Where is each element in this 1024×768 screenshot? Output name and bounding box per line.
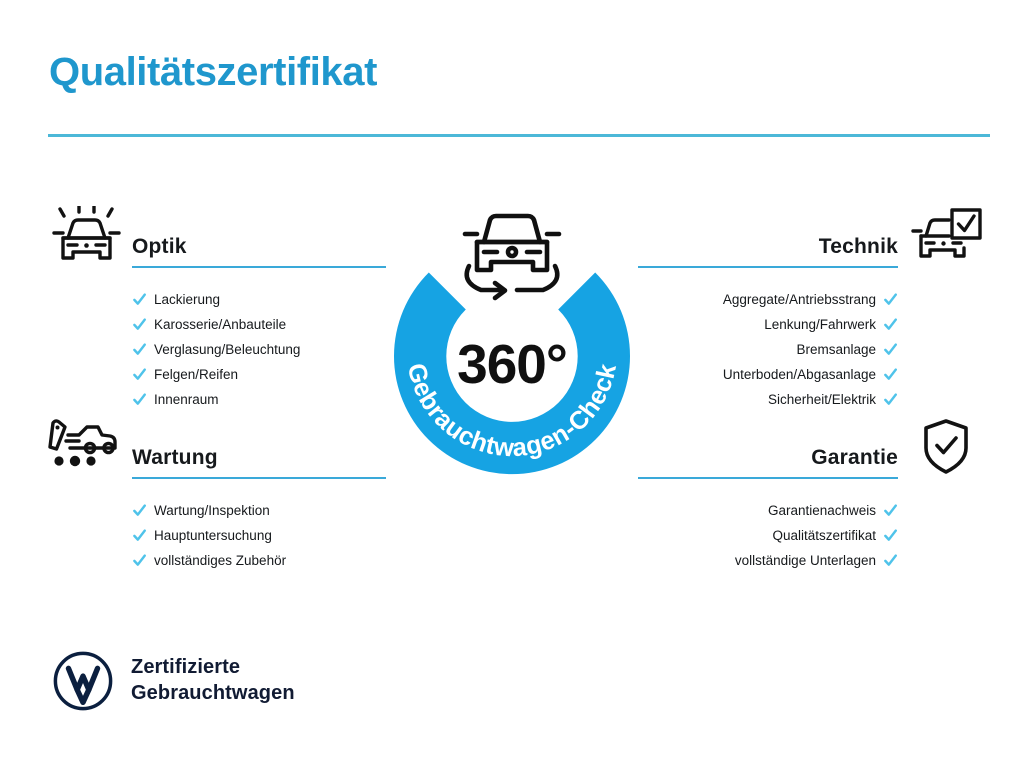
list-item: Lackierung	[132, 292, 386, 307]
section-garantie: Garantie Garantienachweis Qualitätszerti…	[638, 417, 984, 578]
section-title: Wartung	[132, 447, 386, 469]
car-checkbox-icon	[908, 206, 984, 268]
section-header: Optik	[46, 206, 386, 272]
check-list-optik: Lackierung Karosserie/Anbauteile Verglas…	[132, 292, 386, 407]
list-item: Innenraum	[132, 392, 386, 407]
section-title-wrap: Optik	[132, 236, 386, 268]
check-icon	[132, 528, 147, 543]
check-icon	[132, 367, 147, 382]
list-item: Lenkung/Fahrwerk	[638, 317, 898, 332]
list-item-label: Wartung/Inspektion	[154, 504, 270, 518]
list-item-label: vollständiges Zubehör	[154, 554, 286, 568]
check-icon	[132, 342, 147, 357]
section-title: Garantie	[638, 447, 898, 469]
check-icon	[132, 317, 147, 332]
vw-wordmark-line2: Gebrauchtwagen	[131, 681, 295, 707]
list-item: vollständige Unterlagen	[638, 553, 898, 568]
header-divider	[48, 134, 990, 137]
list-item: Wartung/Inspektion	[132, 503, 386, 518]
section-underline	[638, 266, 898, 268]
certificate-page: Qualitätszertifikat	[0, 0, 1024, 768]
check-icon	[883, 292, 898, 307]
car-shine-icon	[46, 206, 122, 268]
check-icon	[132, 503, 147, 518]
check-icon	[132, 392, 147, 407]
footer-brand: Zertifizierte Gebrauchtwagen	[52, 650, 295, 712]
section-title: Technik	[638, 236, 898, 258]
check-icon	[883, 317, 898, 332]
list-item: Karosserie/Anbauteile	[132, 317, 386, 332]
section-title: Optik	[132, 236, 386, 258]
check-icon	[132, 553, 147, 568]
list-item: Felgen/Reifen	[132, 367, 386, 382]
section-wartung: Wartung Wartung/Inspektion Hauptuntersuc…	[46, 417, 386, 578]
vw-logo-icon	[52, 650, 114, 712]
check-list-technik: Aggregate/Antriebsstrang Lenkung/Fahrwer…	[638, 292, 898, 407]
list-item-label: Bremsanlage	[796, 343, 876, 357]
section-underline	[132, 477, 386, 479]
list-item-label: Lenkung/Fahrwerk	[764, 318, 876, 332]
list-item: Sicherheit/Elektrik	[638, 392, 898, 407]
vw-wordmark: Zertifizierte Gebrauchtwagen	[131, 655, 295, 706]
section-header: Technik	[638, 206, 984, 272]
car-rotate-icon	[451, 200, 573, 305]
check-icon	[883, 528, 898, 543]
section-header: Garantie	[638, 417, 984, 483]
wrench-car-icon	[46, 417, 122, 479]
list-item: Qualitätszertifikat	[638, 528, 898, 543]
section-header: Wartung	[46, 417, 386, 483]
check-icon	[883, 553, 898, 568]
list-item-label: Lackierung	[154, 293, 220, 307]
list-item: Hauptuntersuchung	[132, 528, 386, 543]
check-icon	[132, 292, 147, 307]
list-item: Garantienachweis	[638, 503, 898, 518]
list-item-label: Sicherheit/Elektrik	[768, 393, 876, 407]
section-title-wrap: Wartung	[132, 447, 386, 479]
list-item-label: Verglasung/Beleuchtung	[154, 343, 300, 357]
list-item: vollständiges Zubehör	[132, 553, 386, 568]
list-item-label: Karosserie/Anbauteile	[154, 318, 286, 332]
badge-degrees-label: 360°	[367, 337, 657, 392]
list-item-label: Hauptuntersuchung	[154, 529, 272, 543]
list-item-label: Felgen/Reifen	[154, 368, 238, 382]
check-icon	[883, 503, 898, 518]
section-optik: Optik Lackierung Karosserie/Anbauteile	[46, 206, 386, 417]
list-item: Verglasung/Beleuchtung	[132, 342, 386, 357]
section-underline	[638, 477, 898, 479]
list-item-label: Qualitätszertifikat	[772, 529, 876, 543]
page-title: Qualitätszertifikat	[49, 50, 377, 94]
list-item: Bremsanlage	[638, 342, 898, 357]
section-underline	[132, 266, 386, 268]
section-title-wrap: Garantie	[638, 447, 898, 479]
check-icon	[883, 392, 898, 407]
list-item: Unterboden/Abgasanlage	[638, 367, 898, 382]
vw-wordmark-line1: Zertifizierte	[131, 655, 295, 681]
badge-360-gebrauchtwagen-check: Gebrauchtwagen-Check 360°	[367, 196, 657, 496]
list-item-label: Unterboden/Abgasanlage	[723, 368, 876, 382]
check-icon	[883, 367, 898, 382]
section-technik: Technik Aggregate/Antriebsstrang Lenkung…	[638, 206, 984, 417]
list-item-label: Aggregate/Antriebsstrang	[723, 293, 876, 307]
list-item-label: vollständige Unterlagen	[735, 554, 876, 568]
list-item: Aggregate/Antriebsstrang	[638, 292, 898, 307]
list-item-label: Garantienachweis	[768, 504, 876, 518]
section-title-wrap: Technik	[638, 236, 898, 268]
check-list-wartung: Wartung/Inspektion Hauptuntersuchung vol…	[132, 503, 386, 568]
shield-check-icon	[908, 417, 984, 479]
check-list-garantie: Garantienachweis Qualitätszertifikat vol…	[638, 503, 898, 568]
list-item-label: Innenraum	[154, 393, 219, 407]
check-icon	[883, 342, 898, 357]
